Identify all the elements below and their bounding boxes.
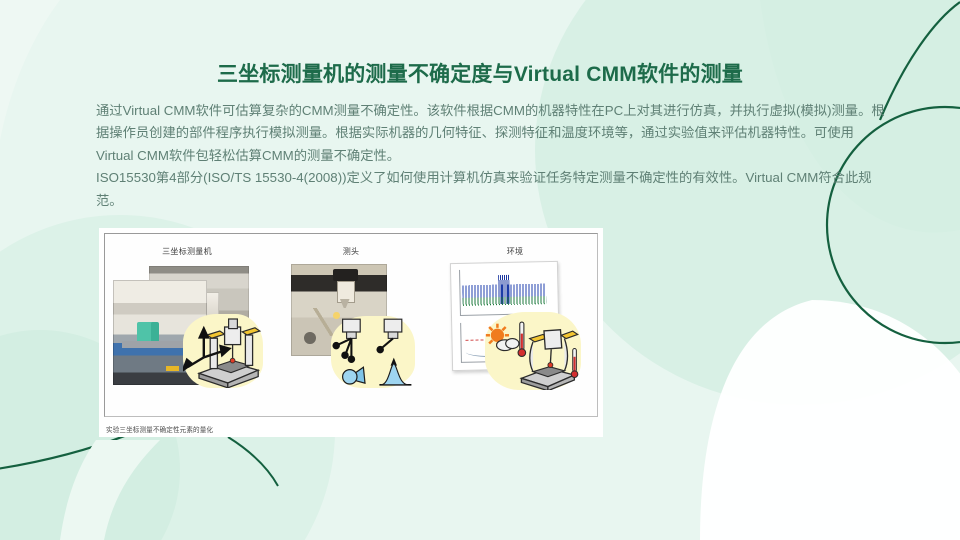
figure-caption: 实验三坐标测量不确定性元素的量化	[104, 417, 598, 434]
body-paragraph-1: 通过Virtual CMM软件可估算复杂的CMM测量不确定性。该软件根据CMM的…	[96, 100, 886, 167]
figure-column-probe: 测头	[269, 234, 433, 416]
probe-styli-diagram	[331, 316, 415, 388]
body-paragraph-2: ISO15530第4部分(ISO/TS 15530-4(2008))定义了如何使…	[96, 167, 886, 212]
figure-column-body	[269, 262, 433, 412]
figure-column-heading: 三坐标测量机	[105, 246, 269, 257]
body-text: 通过Virtual CMM软件可估算复杂的CMM测量不确定性。该软件根据CMM的…	[96, 100, 886, 212]
environment-thermal-diagram	[485, 312, 581, 390]
probe-head-block	[333, 269, 358, 282]
cmm-axes-diagram	[183, 314, 263, 388]
cmm-column-part-2	[151, 322, 159, 343]
figure-column-body	[433, 262, 597, 412]
figure-card: 三坐标测量机	[99, 228, 603, 437]
page-title: 三坐标测量机的测量不确定度与Virtual CMM软件的测量	[0, 58, 960, 88]
figure-column-cmm: 三坐标测量机	[105, 234, 269, 416]
figure-column-environment: 环境	[433, 234, 597, 416]
figure-column-heading: 测头	[269, 246, 433, 257]
figure-columns: 三坐标测量机	[105, 234, 597, 416]
cmm-label-strip	[166, 366, 179, 371]
probe-tip	[340, 299, 350, 308]
probe-ball	[304, 332, 316, 344]
figure-column-body	[105, 262, 269, 412]
chart-green-series	[462, 296, 547, 306]
figure-frame: 三坐标测量机	[104, 233, 598, 417]
slide: 三坐标测量机的测量不确定度与Virtual CMM软件的测量 通过Virtual…	[0, 0, 960, 540]
figure-column-heading: 环境	[433, 246, 597, 257]
